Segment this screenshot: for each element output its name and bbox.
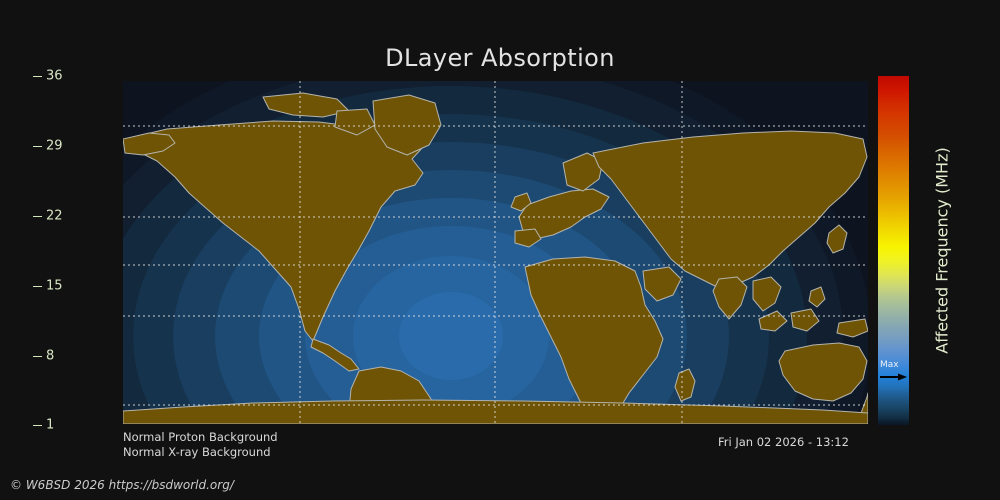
colorbar-tick-8 [33, 356, 42, 357]
colorbar-tick-22 [33, 216, 42, 217]
timestamp-label: Fri Jan 02 2026 - 13:12 [718, 435, 849, 449]
colorbar-axis-label-text: Affected Frequency (MHz) [933, 147, 952, 353]
copyright-label: © W6BSD 2026 https://bsdworld.org/ [10, 478, 234, 492]
colorbar-tick-29 [33, 146, 42, 147]
chart-page: DLayer Absorption [0, 0, 1000, 500]
map-canvas [123, 81, 868, 424]
max-arrow-icon [880, 373, 907, 381]
colorbar-tick-36 [33, 76, 42, 77]
colorbar-tick-label-8: 8 [46, 349, 54, 364]
colorbar-tick-1 [33, 425, 42, 426]
colorbar-max-label: Max [880, 360, 899, 370]
note-proton-background: Normal Proton Background [123, 430, 278, 444]
colorbar-tick-label-36: 36 [46, 69, 63, 84]
world-map-plot [123, 81, 868, 424]
colorbar-max-marker: Max [879, 360, 909, 382]
colorbar-tick-label-15: 15 [46, 279, 63, 294]
page-title: DLayer Absorption [0, 44, 1000, 72]
note-xray-background: Normal X-ray Background [123, 445, 271, 459]
colorbar-tick-15 [33, 286, 42, 287]
colorbar-tick-label-29: 29 [46, 139, 63, 154]
colorbar-tick-label-1: 1 [46, 418, 54, 433]
colorbar-axis-label: Affected Frequency (MHz) [931, 76, 953, 425]
colorbar-tick-label-22: 22 [46, 209, 63, 224]
